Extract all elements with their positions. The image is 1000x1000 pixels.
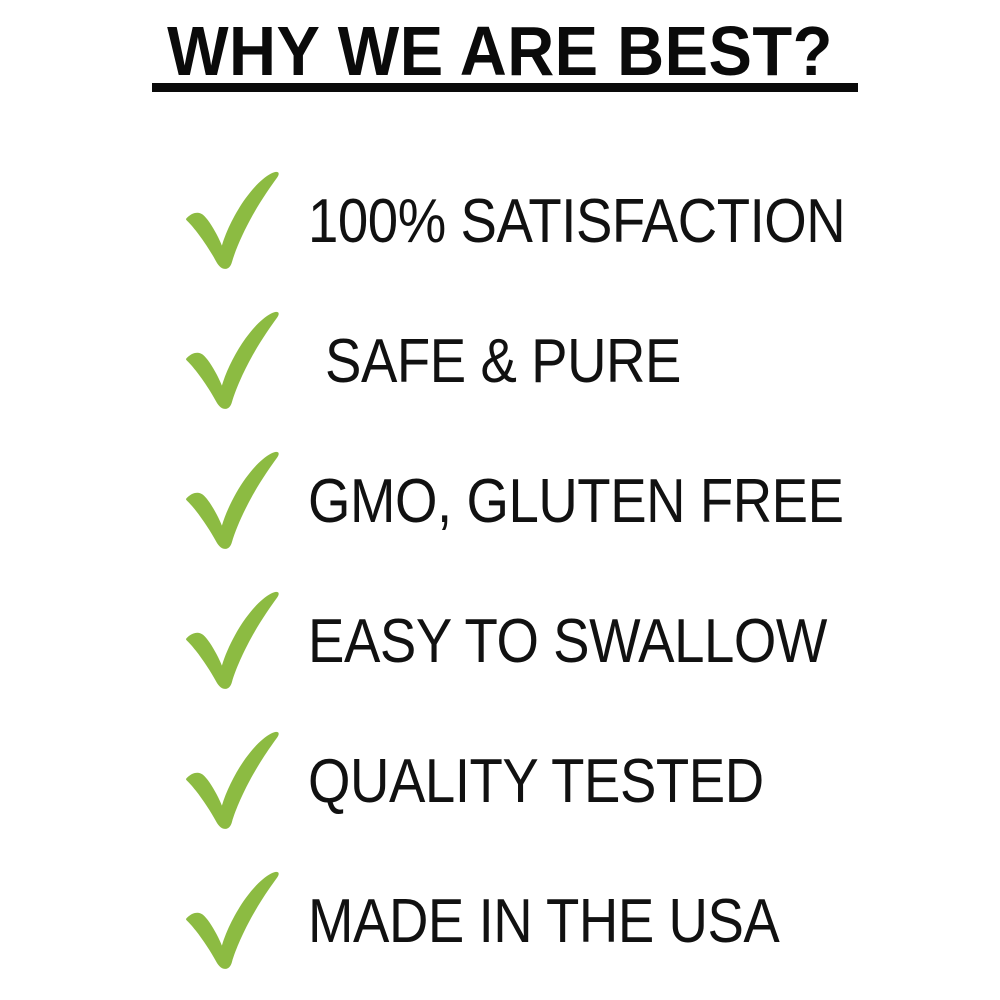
list-item: EASY TO SWALLOW: [0, 572, 1000, 712]
list-item: GMO, GLUTEN FREE: [0, 432, 1000, 572]
list-item: MADE IN THE USA: [0, 852, 1000, 992]
check-icon: [182, 170, 286, 274]
why-we-are-best-poster: WHY WE ARE BEST? 100% SATISFACTION SAFE …: [0, 0, 1000, 1000]
benefits-list: 100% SATISFACTION SAFE & PURE GMO, GLUTE…: [0, 152, 1000, 992]
check-icon: [182, 450, 286, 554]
check-icon: [182, 870, 286, 974]
check-icon: [182, 310, 286, 414]
list-item: QUALITY TESTED: [0, 712, 1000, 852]
benefit-label: 100% SATISFACTION: [308, 191, 845, 253]
benefit-label: SAFE & PURE: [325, 331, 681, 393]
benefit-label: GMO, GLUTEN FREE: [308, 471, 844, 533]
check-icon: [182, 730, 286, 834]
benefit-label: EASY TO SWALLOW: [308, 611, 827, 673]
check-icon: [182, 590, 286, 694]
benefit-label: MADE IN THE USA: [308, 891, 779, 953]
heading-underline-rule: [152, 83, 858, 92]
page-title: WHY WE ARE BEST?: [35, 16, 965, 86]
heading-block: WHY WE ARE BEST?: [0, 16, 1000, 86]
list-item: SAFE & PURE: [0, 292, 1000, 432]
benefit-label: QUALITY TESTED: [308, 751, 764, 813]
list-item: 100% SATISFACTION: [0, 152, 1000, 292]
